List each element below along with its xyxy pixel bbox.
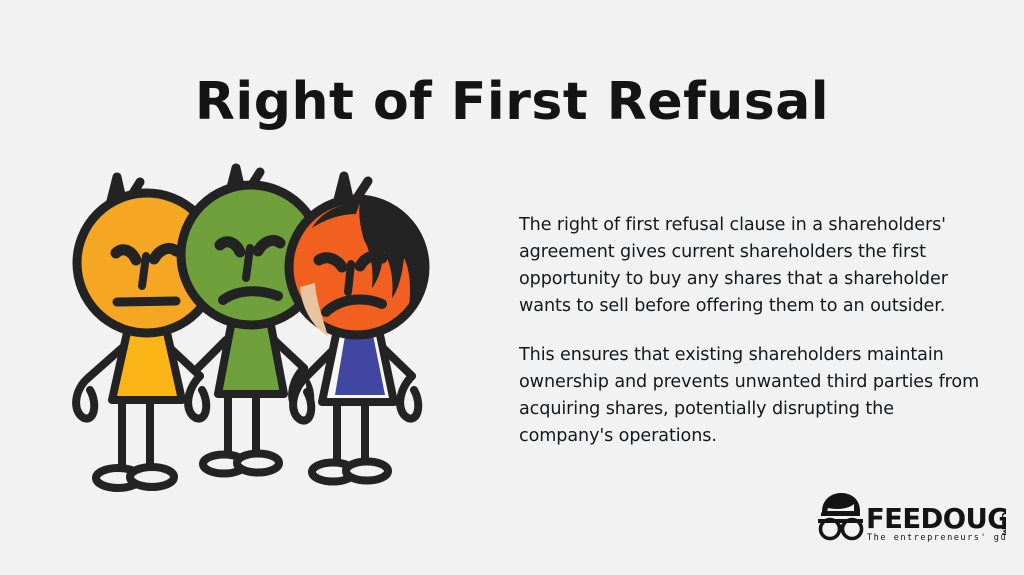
foot-left-b: [130, 467, 174, 487]
feedough-face-icon: [818, 493, 863, 539]
figure-right: [289, 176, 425, 482]
logo-tagline: The entrepreneurs' guide: [867, 533, 1006, 543]
illustration-three-angry-stick-figures: [60, 150, 460, 510]
paragraph-2: This ensures that existing shareholders …: [519, 342, 981, 450]
logo-wordmark: FEEDOUGH: [866, 503, 1006, 535]
page-title: Right of First Refusal: [0, 73, 1024, 133]
feedough-logo-svg: FEEDOUGH .COM The entrepreneurs' guide: [814, 492, 1006, 548]
slide-canvas: Right of First Refusal: [0, 0, 1024, 575]
foot-middle-b: [237, 454, 279, 473]
logo-domain: .COM: [999, 508, 1006, 536]
paragraph-1: The right of first refusal clause in a s…: [519, 212, 981, 320]
stick-figures-svg: [60, 150, 460, 510]
nose-middle: [246, 248, 250, 278]
body-left: [112, 328, 182, 400]
feedough-logo[interactable]: FEEDOUGH .COM The entrepreneurs' guide: [814, 492, 1006, 548]
foot-right-b: [346, 462, 388, 481]
body-middle: [218, 320, 284, 394]
nose-right: [348, 264, 351, 292]
mouth-left: [117, 301, 176, 302]
nose-left: [142, 256, 146, 286]
body-copy: The right of first refusal clause in a s…: [519, 212, 981, 450]
figure-middle: [181, 168, 321, 474]
